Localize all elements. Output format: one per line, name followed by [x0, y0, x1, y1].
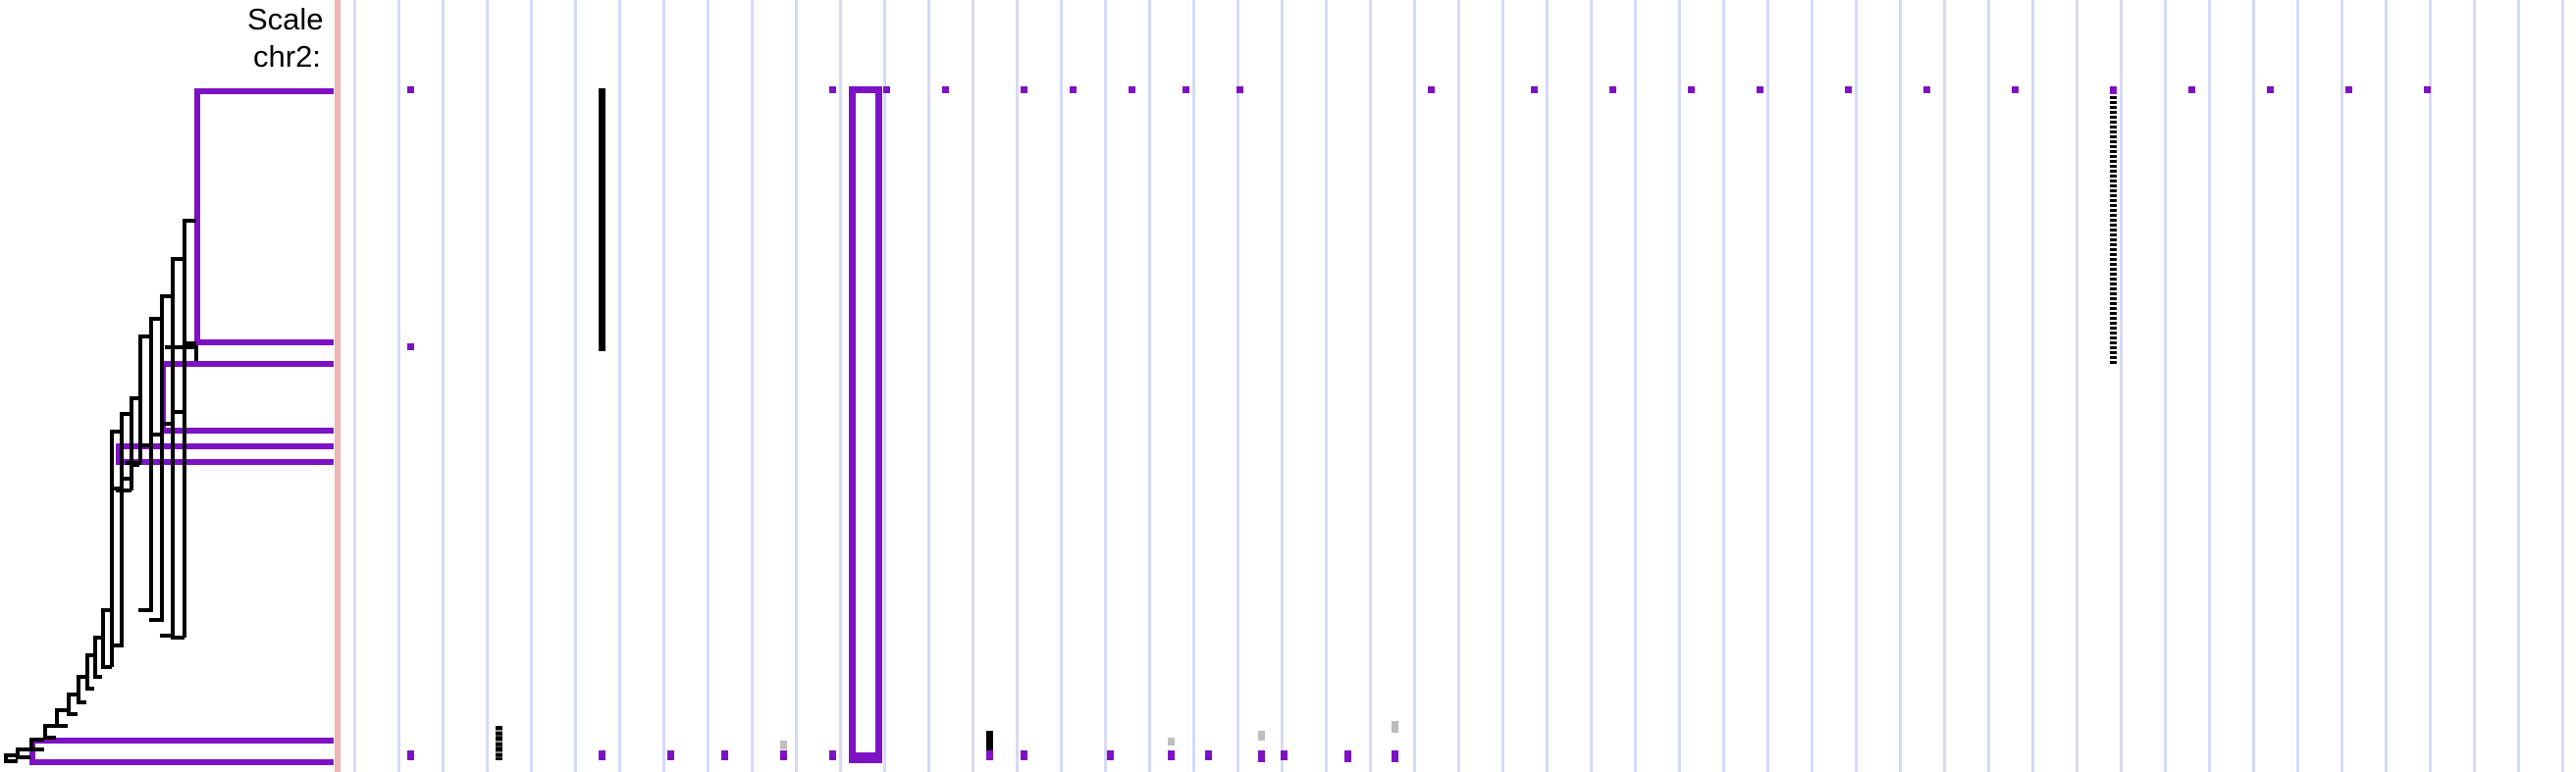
genotype-matrix[interactable]: [338, 0, 2576, 772]
variant-column[interactable]: [986, 731, 993, 750]
gridline: [839, 0, 842, 772]
dendro-branch: [130, 465, 133, 490]
gridline: [1060, 0, 1063, 772]
dendro-branch: [138, 608, 151, 612]
dendro-branch: [149, 618, 162, 622]
variant-tick[interactable]: [1923, 86, 1930, 93]
gridline: [397, 0, 400, 772]
gridline: [2076, 0, 2078, 772]
variant-tick[interactable]: [2110, 86, 2117, 93]
variant-column[interactable]: [829, 750, 836, 760]
gridline: [1192, 0, 1195, 772]
variant-tick[interactable]: [1688, 86, 1695, 93]
variant-column[interactable]: [599, 750, 605, 760]
variant-column[interactable]: [1168, 738, 1175, 746]
variant-tick[interactable]: [883, 86, 890, 93]
gridline: [2296, 0, 2299, 772]
gridline: [1369, 0, 1372, 772]
variant-tick[interactable]: [2424, 86, 2431, 93]
dendro-branch: [43, 736, 56, 740]
variant-column[interactable]: [407, 343, 414, 350]
gridline: [707, 0, 710, 772]
gridline: [2429, 0, 2432, 772]
dendro-branch-purple: [194, 88, 334, 94]
dendro-branch: [111, 643, 122, 647]
variant-column[interactable]: [667, 750, 674, 760]
gridline: [2473, 0, 2476, 772]
gridline: [1016, 0, 1019, 772]
dendro-branch: [110, 490, 114, 667]
dendro-branch: [165, 345, 196, 349]
variant-column[interactable]: [1107, 750, 1114, 760]
dendro-branch-purple: [29, 759, 334, 765]
dendro-branch: [120, 412, 124, 481]
dendro-branch: [55, 724, 68, 728]
variant-column[interactable]: [1281, 750, 1288, 760]
variant-column[interactable]: [780, 750, 787, 760]
variant-tick[interactable]: [1428, 86, 1435, 93]
gridline: [1236, 0, 1239, 772]
gridline: [972, 0, 974, 772]
gridline: [353, 0, 356, 772]
variant-bracket[interactable]: [849, 86, 882, 763]
gridline: [1899, 0, 1902, 772]
gridline: [1987, 0, 1990, 772]
variant-column[interactable]: [1168, 750, 1175, 760]
genome-browser-screenshot: Scale chr2: 200 bases hg19 170,332,500 |…: [0, 0, 2576, 772]
variant-column[interactable]: [407, 86, 414, 93]
variant-column[interactable]: [407, 750, 414, 760]
variant-column[interactable]: [1021, 750, 1027, 760]
gridline: [2340, 0, 2343, 772]
dendro-branch: [110, 430, 114, 490]
bracket-bottom-stroke: [849, 752, 882, 763]
gridline: [1943, 0, 1946, 772]
variant-column[interactable]: [780, 741, 787, 749]
gridline: [1855, 0, 1858, 772]
gridline: [442, 0, 445, 772]
dendro-branch: [101, 665, 112, 669]
dendro-branch: [171, 636, 184, 640]
dendro-branch: [77, 700, 86, 704]
variant-tick[interactable]: [1845, 86, 1852, 93]
gridline: [1634, 0, 1637, 772]
dendro-branch: [149, 436, 153, 612]
gridline: [751, 0, 754, 772]
variant-column[interactable]: [1258, 731, 1265, 741]
dendro-branch: [67, 712, 78, 716]
gridline: [2208, 0, 2211, 772]
dendro-branch: [93, 636, 97, 679]
gridline: [1546, 0, 1549, 772]
dendro-branch: [29, 747, 44, 751]
variant-tick[interactable]: [1129, 86, 1135, 93]
variant-column[interactable]: [721, 750, 728, 760]
dendro-branch: [4, 759, 18, 763]
gridline: [1413, 0, 1416, 772]
variant-column[interactable]: [2110, 86, 2117, 366]
gridline: [1590, 0, 1593, 772]
variant-tick[interactable]: [2267, 86, 2274, 93]
dendro-branch: [130, 396, 133, 467]
gridline: [2252, 0, 2255, 772]
variant-tick[interactable]: [1757, 86, 1763, 93]
gridline: [883, 0, 886, 772]
gridline: [574, 0, 577, 772]
dendro-branch-purple: [29, 738, 334, 744]
clustering-dendrogram: [0, 0, 338, 772]
bracket-left-stroke: [849, 86, 856, 763]
gridline: [662, 0, 665, 772]
variant-tick[interactable]: [1021, 86, 1027, 93]
gridline: [2517, 0, 2520, 772]
gridline: [1104, 0, 1107, 772]
variant-tick[interactable]: [942, 86, 949, 93]
dendro-branch: [183, 343, 186, 638]
gridline: [795, 0, 798, 772]
gridline: [1325, 0, 1328, 772]
bracket-right-stroke: [875, 86, 882, 763]
variant-tick[interactable]: [2012, 86, 2019, 93]
dendro-branch: [120, 481, 124, 647]
variant-tick[interactable]: [1183, 86, 1189, 93]
dendro-branch: [183, 219, 186, 345]
gridline: [2120, 0, 2123, 772]
gridline: [1501, 0, 1504, 772]
gridline: [530, 0, 533, 772]
dendro-branch: [160, 426, 164, 622]
gridline: [2164, 0, 2167, 772]
variant-column[interactable]: [1392, 721, 1398, 733]
variant-column[interactable]: [1258, 750, 1265, 762]
dendro-branch: [160, 294, 164, 426]
gridline: [2561, 0, 2564, 772]
variant-column[interactable]: [986, 750, 993, 760]
dendro-branch-purple: [194, 339, 334, 345]
dendro-branch: [138, 335, 142, 447]
dendro-branch: [126, 461, 141, 465]
dendro-branch: [116, 489, 131, 492]
variant-tick[interactable]: [829, 86, 836, 93]
variant-tick[interactable]: [2188, 86, 2195, 93]
variant-tick[interactable]: [1609, 86, 1616, 93]
gridline: [618, 0, 621, 772]
variant-tick[interactable]: [2345, 86, 2352, 93]
gridline: [927, 0, 930, 772]
variant-tick[interactable]: [1531, 86, 1538, 93]
gridline: [1678, 0, 1681, 772]
gridline: [2385, 0, 2388, 772]
variant-column[interactable]: [1205, 750, 1212, 760]
gridline: [486, 0, 489, 772]
dendro-branch: [85, 687, 94, 691]
dendro-branch: [16, 755, 30, 759]
variant-column[interactable]: [599, 88, 605, 351]
variant-column[interactable]: [496, 726, 502, 760]
gridline: [1722, 0, 1725, 772]
gridline: [1457, 0, 1460, 772]
variant-tick[interactable]: [1070, 86, 1077, 93]
dendro-branch: [171, 412, 175, 638]
dendro-branch-purple: [194, 88, 200, 345]
dendro-branch: [93, 675, 102, 679]
dendro-branch: [171, 257, 175, 414]
gridline: [1766, 0, 1769, 772]
variant-column[interactable]: [1344, 750, 1351, 762]
gridline: [2031, 0, 2034, 772]
gridline: [1281, 0, 1284, 772]
bracket-top-stroke: [849, 86, 882, 93]
dendro-branch: [85, 653, 89, 691]
gridline: [1148, 0, 1151, 772]
gridline: [1811, 0, 1814, 772]
variant-column[interactable]: [1392, 750, 1398, 762]
variant-tick[interactable]: [1236, 86, 1243, 93]
